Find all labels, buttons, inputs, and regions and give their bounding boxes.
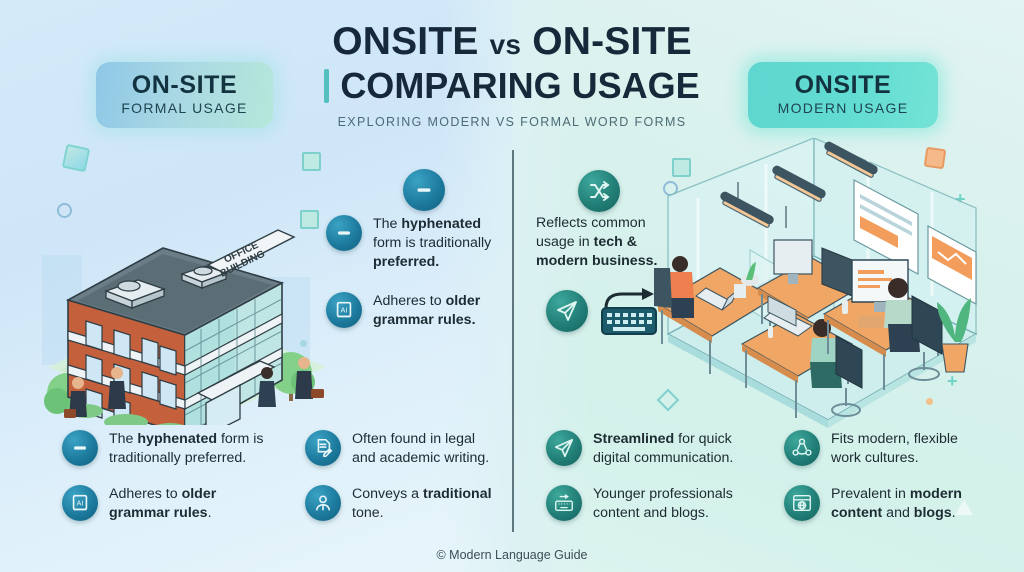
bullet-right-bottom-1-text: Streamlined for quick digital communicat… (593, 430, 754, 468)
bullet-right-bottom-4-text: Prevalent in modern content and blogs. (831, 485, 974, 523)
footer-credit: © Modern Language Guide (0, 548, 1024, 562)
bullet-left-top-2-text: Adheres to older grammar rules. (373, 292, 498, 330)
bullet-left-bottom-3-text: Often found in legal and academic writin… (352, 430, 501, 468)
bullet-left-top-1-text: The hyphenated form is traditionally pre… (373, 215, 496, 272)
title-word-on-site: ON-SITE (532, 20, 692, 63)
title-block: ONSITE vs ON-SITE COMPARING USAGE EXPLOR… (300, 22, 724, 129)
title-accent-bar (324, 69, 329, 103)
bullet-left-bottom-2: AI Adheres to older grammar rules. (62, 485, 262, 523)
title-word-onsite: ONSITE (332, 20, 478, 63)
badge-modern-usage[interactable]: ONSITE MODERN USAGE (748, 62, 938, 128)
page-title-line2: COMPARING USAGE (340, 67, 699, 105)
badge-formal-usage[interactable]: ON-SITE FORMAL USAGE (96, 62, 273, 128)
bullet-left-bottom-1: The hyphenated form is traditionally pre… (62, 430, 277, 468)
bullet-left-bottom-3: Often found in legal and academic writin… (305, 430, 501, 468)
minus-circle-icon (403, 169, 445, 211)
bullet-left-bottom-4-text: Conveys a traditional tone. (352, 485, 495, 523)
bullet-left-bottom-1-text: The hyphenated form is traditionally pre… (109, 430, 277, 468)
businessperson-icon (305, 485, 341, 521)
shuffle-icon (578, 170, 620, 212)
infographic-canvas: + + ONSITE vs ON-SITE COMPARING USAGE EX… (0, 0, 1024, 572)
bullet-left-top-2: AI Adheres to older grammar rules. (326, 292, 498, 330)
businessperson (295, 357, 324, 399)
svg-text:AI: AI (77, 498, 84, 507)
bullet-right-bottom-3: Fits modern, flexible work cultures. (784, 430, 969, 468)
bullet-left-bottom-2-text: Adheres to older grammar rules. (109, 485, 262, 523)
document-edit-icon (305, 430, 341, 466)
bullet-right-bottom-2-text: Younger professionals content and blogs. (593, 485, 746, 523)
bullet-right-top-1: Reflects common usage in tech & modern b… (536, 214, 686, 271)
isometric-modern-open-office (646, 138, 992, 428)
badge-right-subtitle: MODERN USAGE (768, 100, 918, 116)
grammar-book-icon: AI (62, 485, 98, 521)
badge-right-title: ONSITE (768, 72, 918, 98)
isometric-office-building: OFFICE BUILDING (30, 135, 340, 425)
minus-circle-icon (326, 215, 362, 251)
page-title-line1: ONSITE vs ON-SITE (300, 22, 724, 63)
bullet-left-top-1: The hyphenated form is traditionally pre… (326, 215, 496, 272)
bullet-right-bottom-3-text: Fits modern, flexible work cultures. (831, 430, 969, 468)
grammar-book-icon: AI (326, 292, 362, 328)
bullet-right-bottom-2: Younger professionals content and blogs. (546, 485, 746, 523)
network-nodes-icon (784, 430, 820, 466)
page-subtitle: EXPLORING MODERN VS FORMAL WORD FORMS (300, 115, 724, 129)
bullet-right-top-1-text: Reflects common usage in tech & modern b… (536, 214, 686, 271)
badge-left-subtitle: FORMAL USAGE (116, 100, 253, 116)
browser-globe-icon (784, 485, 820, 521)
keyboard-arrow-decoration (600, 286, 658, 336)
bullet-right-bottom-4: Prevalent in modern content and blogs. (784, 485, 974, 523)
office-building-sign: OFFICE BUILDING (208, 230, 294, 280)
center-divider (512, 150, 514, 532)
bullet-left-bottom-4: Conveys a traditional tone. (305, 485, 495, 523)
badge-left-title: ON-SITE (116, 72, 253, 98)
paper-plane-icon (546, 290, 588, 332)
minus-circle-icon (62, 430, 98, 466)
bullet-right-bottom-1: Streamlined for quick digital communicat… (546, 430, 754, 468)
title-word-vs: vs (490, 29, 522, 60)
paper-plane-icon (546, 430, 582, 466)
keyboard-icon (546, 485, 582, 521)
svg-text:AI: AI (341, 305, 348, 314)
